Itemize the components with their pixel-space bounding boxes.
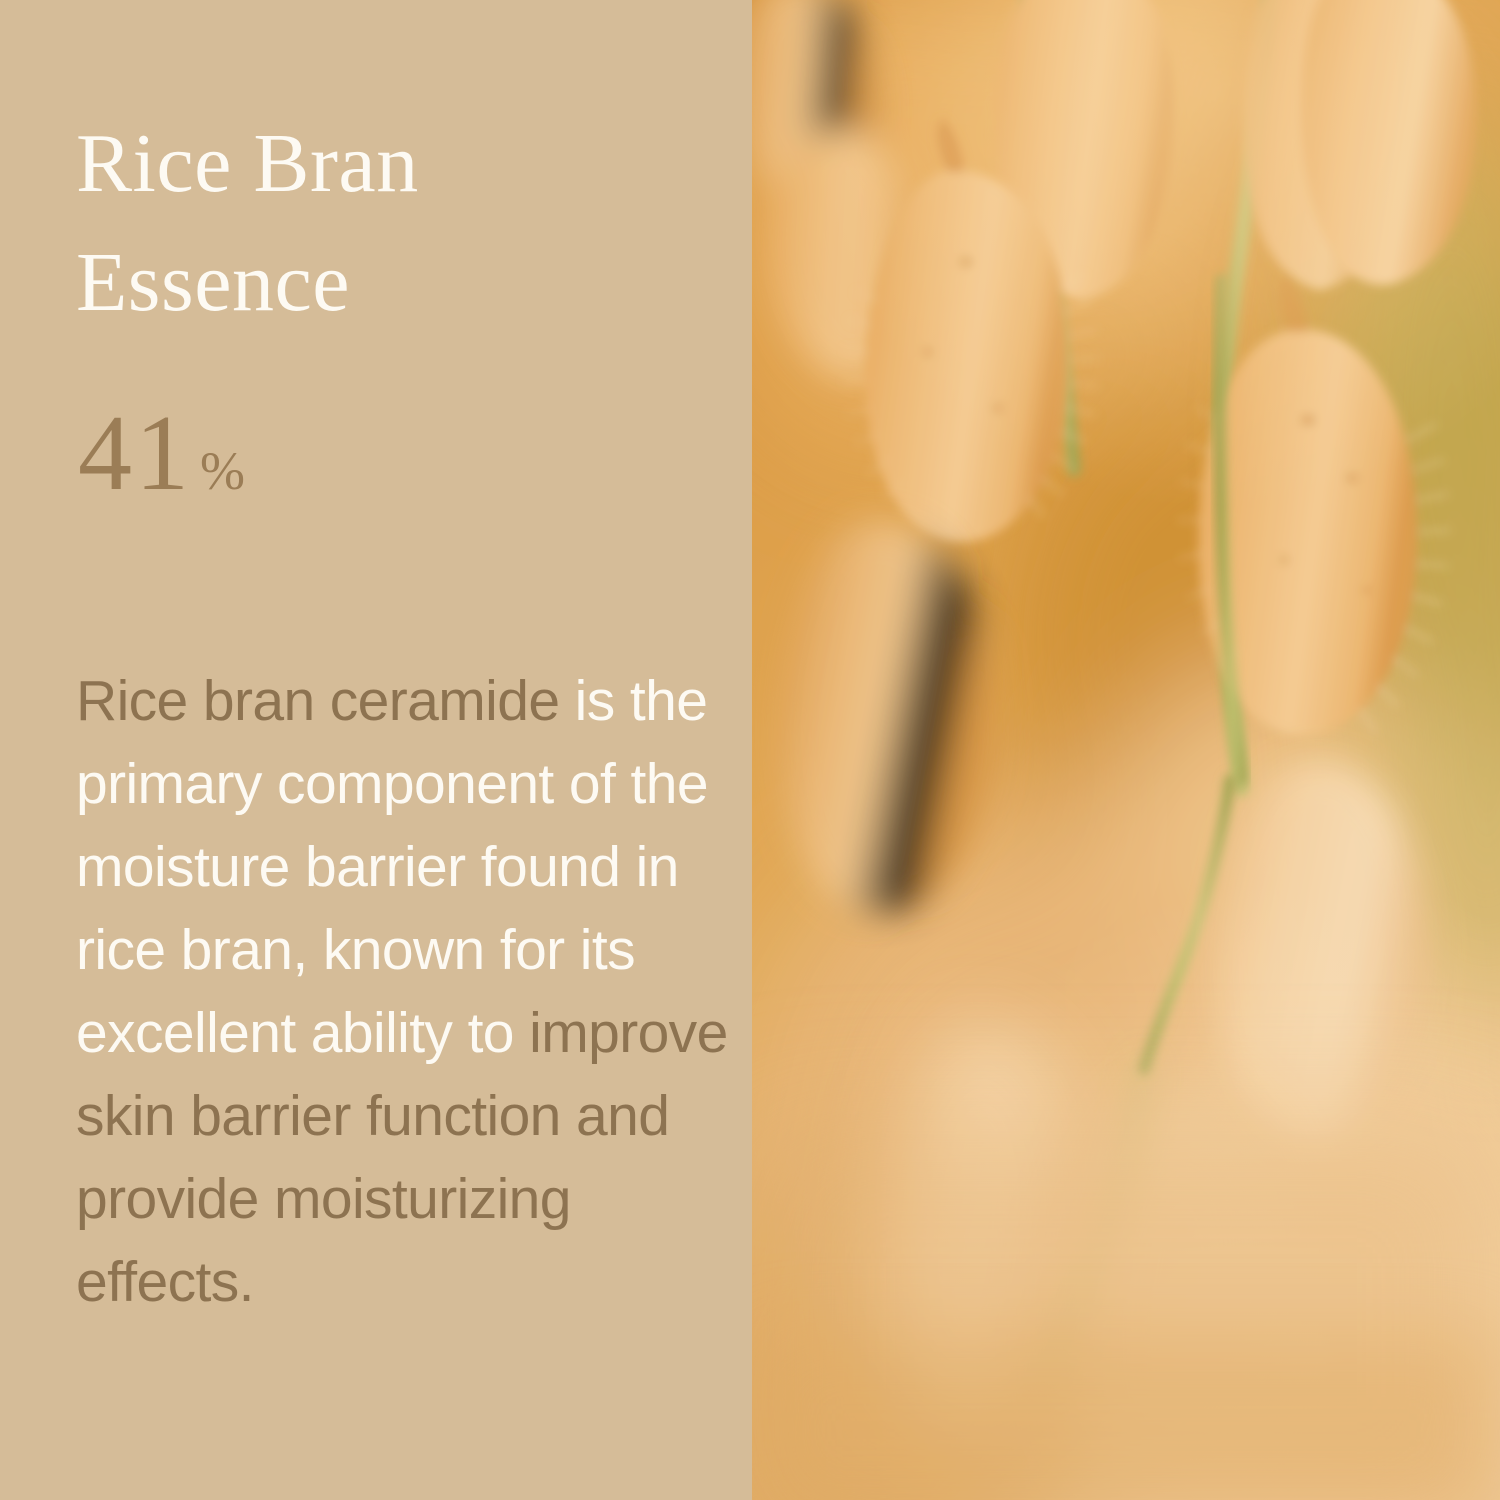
percentage-value: 41: [78, 400, 192, 508]
description-paragraph: Rice bran ceramide is the primary compon…: [76, 660, 736, 1324]
title-line-1: Rice Bran: [76, 104, 696, 223]
left-text-panel: Rice Bran Essence 41 % Rice bran ceramid…: [0, 0, 752, 1500]
concentration-percentage: 41 %: [78, 400, 245, 508]
title-line-2: Essence: [76, 223, 696, 342]
percent-sign-icon: %: [200, 444, 245, 498]
rice-grain-photograph: [752, 0, 1500, 1500]
description-segment-1: Rice bran ceramide: [76, 669, 575, 733]
rice-grain-photo-illustration: [752, 0, 1500, 1500]
page-title: Rice Bran Essence: [76, 104, 696, 343]
ingredient-info-card: Rice Bran Essence 41 % Rice bran ceramid…: [0, 0, 1500, 1500]
